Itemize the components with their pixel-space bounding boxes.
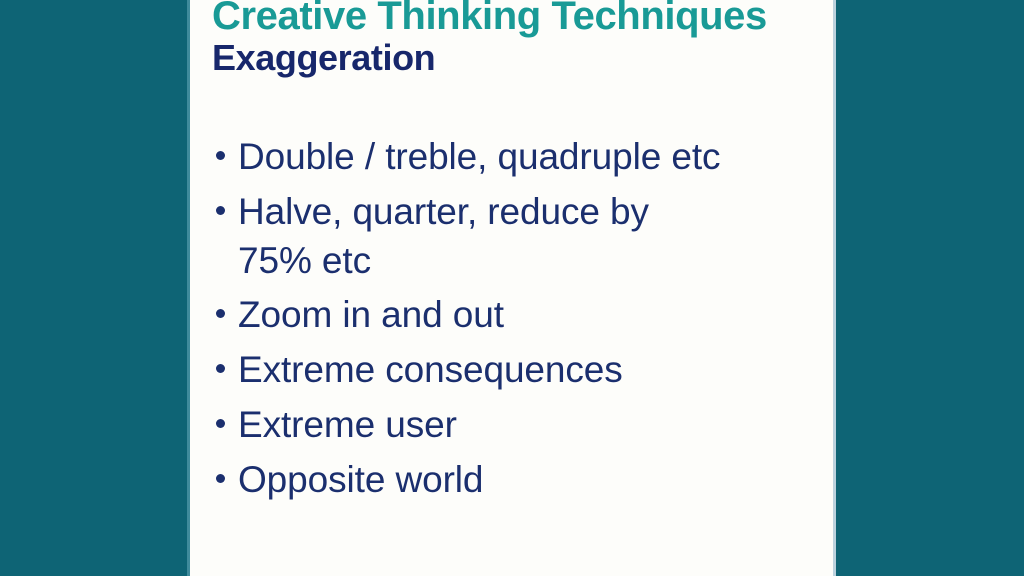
slide-root: Creative Thinking Techniques Exaggeratio… (0, 0, 1024, 576)
list-item: Extreme user (214, 401, 814, 450)
right-edge-divider (833, 0, 836, 576)
list-item: Zoom in and out (214, 291, 814, 340)
slide-content-panel: Creative Thinking Techniques Exaggeratio… (190, 0, 833, 576)
list-item-label: Zoom in and out (238, 291, 814, 340)
list-item-label: Extreme consequences (238, 346, 814, 395)
bullet-dot-icon (216, 309, 225, 318)
bullet-dot-icon (216, 151, 225, 160)
list-item: Halve, quarter, reduce by 75% etc (214, 188, 814, 286)
bullet-dot-icon (216, 206, 225, 215)
list-item: Opposite world (214, 456, 814, 505)
list-item-label: Double / treble, quadruple etc (238, 133, 728, 182)
slide-title-primary: Creative Thinking Techniques (212, 0, 822, 36)
list-item: Double / treble, quadruple etc (214, 133, 814, 182)
left-teal-sidebar (0, 0, 187, 576)
list-item-label: Opposite world (238, 456, 814, 505)
bullet-dot-icon (216, 474, 225, 483)
bullet-dot-icon (216, 364, 225, 373)
bullet-list: Double / treble, quadruple etc Halve, qu… (214, 133, 814, 511)
list-item: Extreme consequences (214, 346, 814, 395)
bullet-dot-icon (216, 419, 225, 428)
list-item-label: Halve, quarter, reduce by 75% etc (238, 188, 728, 286)
slide-title-secondary: Exaggeration (212, 40, 822, 76)
right-teal-sidebar (838, 0, 1024, 576)
slide-title-block: Creative Thinking Techniques Exaggeratio… (212, 0, 822, 76)
list-item-label: Extreme user (238, 401, 814, 450)
